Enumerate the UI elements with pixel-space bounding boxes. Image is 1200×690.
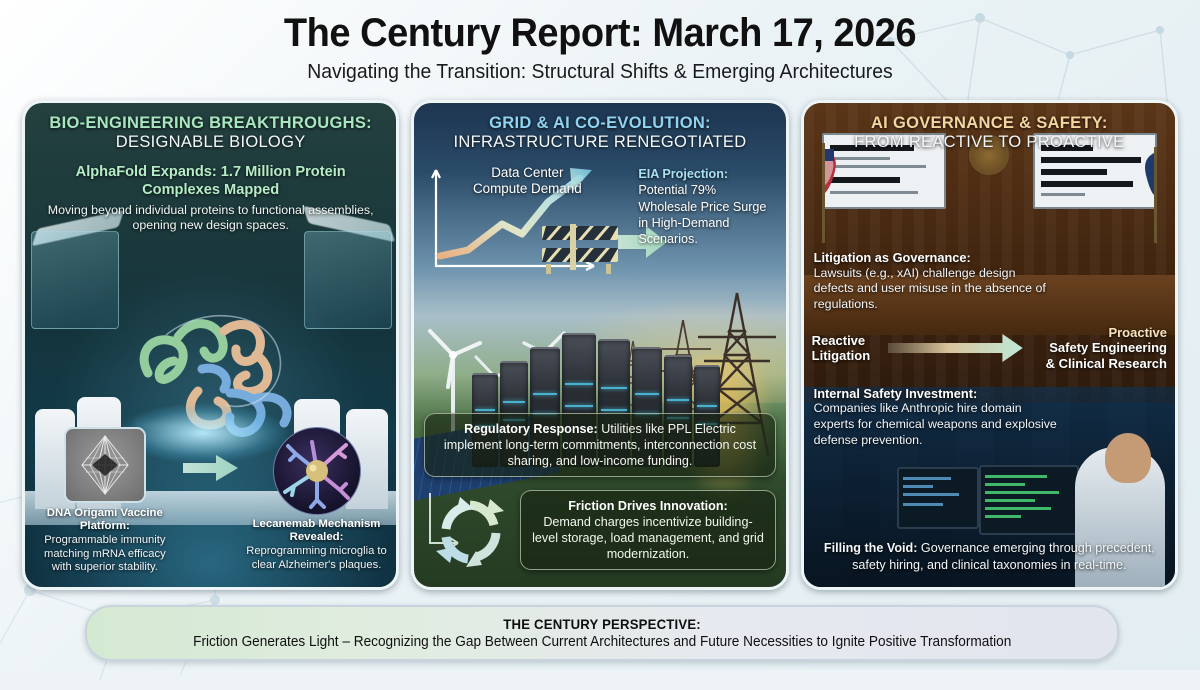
alphafold-body: Moving beyond individual proteins to fun… [43, 203, 378, 234]
internal-safety-title: Internal Safety Investment: [814, 386, 1059, 402]
right-arrow-icon [888, 331, 1023, 365]
regulatory-response-callout[interactable]: Regulatory Response: Utilities like PPL … [424, 413, 775, 477]
panel-ai-governance[interactable]: AI GOVERNANCE & SAFETY: FROM REACTIVE TO… [801, 100, 1178, 590]
litigation-governance-item: Litigation as Governance: Lawsuits (e.g.… [804, 250, 1069, 313]
litigation-governance-title: Litigation as Governance: [814, 250, 1059, 266]
friction-innovation-callout[interactable]: Friction Drives Innovation: Demand charg… [520, 490, 775, 570]
filling-the-void-note: Filling the Void: Governance emerging th… [804, 540, 1175, 587]
transition-to-line1: Proactive [1027, 325, 1167, 341]
dna-origami-body: Programmable immunity matching mRNA effi… [33, 534, 177, 575]
transition-to-line3: & Clinical Research [1027, 356, 1167, 372]
chart-axis-label: Data Center Compute Demand [462, 165, 592, 197]
regulatory-response-title: Regulatory Response: [464, 422, 598, 436]
panel-bio-engineering[interactable]: BIO-ENGINEERING BREAKTHROUGHS: DESIGNABL… [22, 100, 399, 590]
transition-from-label: Reactive Litigation [812, 333, 888, 364]
eia-projection: EIA Projection: Potential 79% Wholesale … [632, 162, 777, 280]
reactive-to-proactive-transition: Reactive Litigation Proactive Safety Eng… [804, 313, 1175, 372]
panel-2-heading: GRID & AI CO-EVOLUTION: INFRASTRUCTURE R… [414, 103, 785, 158]
dna-origami-title: DNA Origami Vaccine Platform: [33, 507, 177, 534]
construction-barricade-icon [540, 218, 624, 274]
dna-origami-item[interactable]: DNA Origami Vaccine Platform: Programmab… [33, 427, 177, 575]
filling-the-void-title: Filling the Void: [824, 541, 918, 555]
demand-chart: Data Center Compute Demand [422, 162, 632, 280]
panel-1-heading-line1: BIO-ENGINEERING BREAKTHROUGHS: [35, 114, 386, 133]
lecanemab-title: Lecanemab Mechanism Revealed: [245, 518, 389, 545]
internal-safety-item: Internal Safety Investment: Companies li… [804, 372, 1069, 449]
litigation-governance-body: Lawsuits (e.g., xAI) challenge design de… [814, 266, 1059, 313]
eia-projection-title: EIA Projection: [638, 167, 728, 181]
panels-row: BIO-ENGINEERING BREAKTHROUGHS: DESIGNABL… [22, 100, 1178, 590]
page-title: The Century Report: March 17, 2026 [30, 12, 1170, 54]
bio-transition-arrow [181, 427, 241, 483]
microglia-cell-icon [273, 427, 361, 515]
footer-statement: Friction Generates Light – Recognizing t… [193, 634, 1011, 650]
internal-safety-body: Companies like Anthropic hire domain exp… [814, 401, 1059, 448]
lecanemab-item[interactable]: Lecanemab Mechanism Revealed: Reprogramm… [245, 427, 389, 573]
lecanemab-body: Reprogramming microglia to clear Alzheim… [245, 545, 389, 572]
panel-3-heading-line2: FROM REACTIVE TO PROACTIVE [814, 133, 1165, 152]
century-perspective-banner: THE CENTURY PERSPECTIVE: Friction Genera… [85, 605, 1119, 661]
right-arrow-icon [183, 453, 239, 483]
transition-to-line2: Safety Engineering [1027, 340, 1167, 356]
panel-2-heading-line2: INFRASTRUCTURE RENEGOTIATED [424, 133, 775, 152]
dna-origami-octahedron-icon [64, 427, 146, 503]
circular-arrows-icon [424, 487, 516, 573]
transition-to-label: Proactive Safety Engineering & Clinical … [1023, 325, 1167, 372]
page-subtitle: Navigating the Transition: Structural Sh… [18, 61, 1182, 83]
panel-2-heading-line1: GRID & AI CO-EVOLUTION: [424, 114, 775, 133]
panel-3-heading: AI GOVERNANCE & SAFETY: FROM REACTIVE TO… [804, 103, 1175, 158]
report-header: The Century Report: March 17, 2026 Navig… [0, 0, 1200, 83]
panel-3-heading-line1: AI GOVERNANCE & SAFETY: [814, 114, 1165, 133]
alphafold-title: AlphaFold Expands: 1.7 Million Protein C… [43, 164, 378, 200]
panel-1-heading-line2: DESIGNABLE BIOLOGY [35, 133, 386, 152]
footer-title: THE CENTURY PERSPECTIVE: [503, 616, 701, 632]
eia-projection-body: Potential 79% Wholesale Price Surge in H… [638, 183, 766, 246]
panel-1-heading: BIO-ENGINEERING BREAKTHROUGHS: DESIGNABL… [25, 103, 396, 158]
friction-innovation-body: Demand charges incentivize building-leve… [532, 515, 764, 561]
panel-grid-ai[interactable]: GRID & AI CO-EVOLUTION: INFRASTRUCTURE R… [411, 100, 788, 590]
panel-1-lead: AlphaFold Expands: 1.7 Million Protein C… [25, 158, 396, 233]
friction-innovation-title: Friction Drives Innovation: [568, 499, 728, 513]
